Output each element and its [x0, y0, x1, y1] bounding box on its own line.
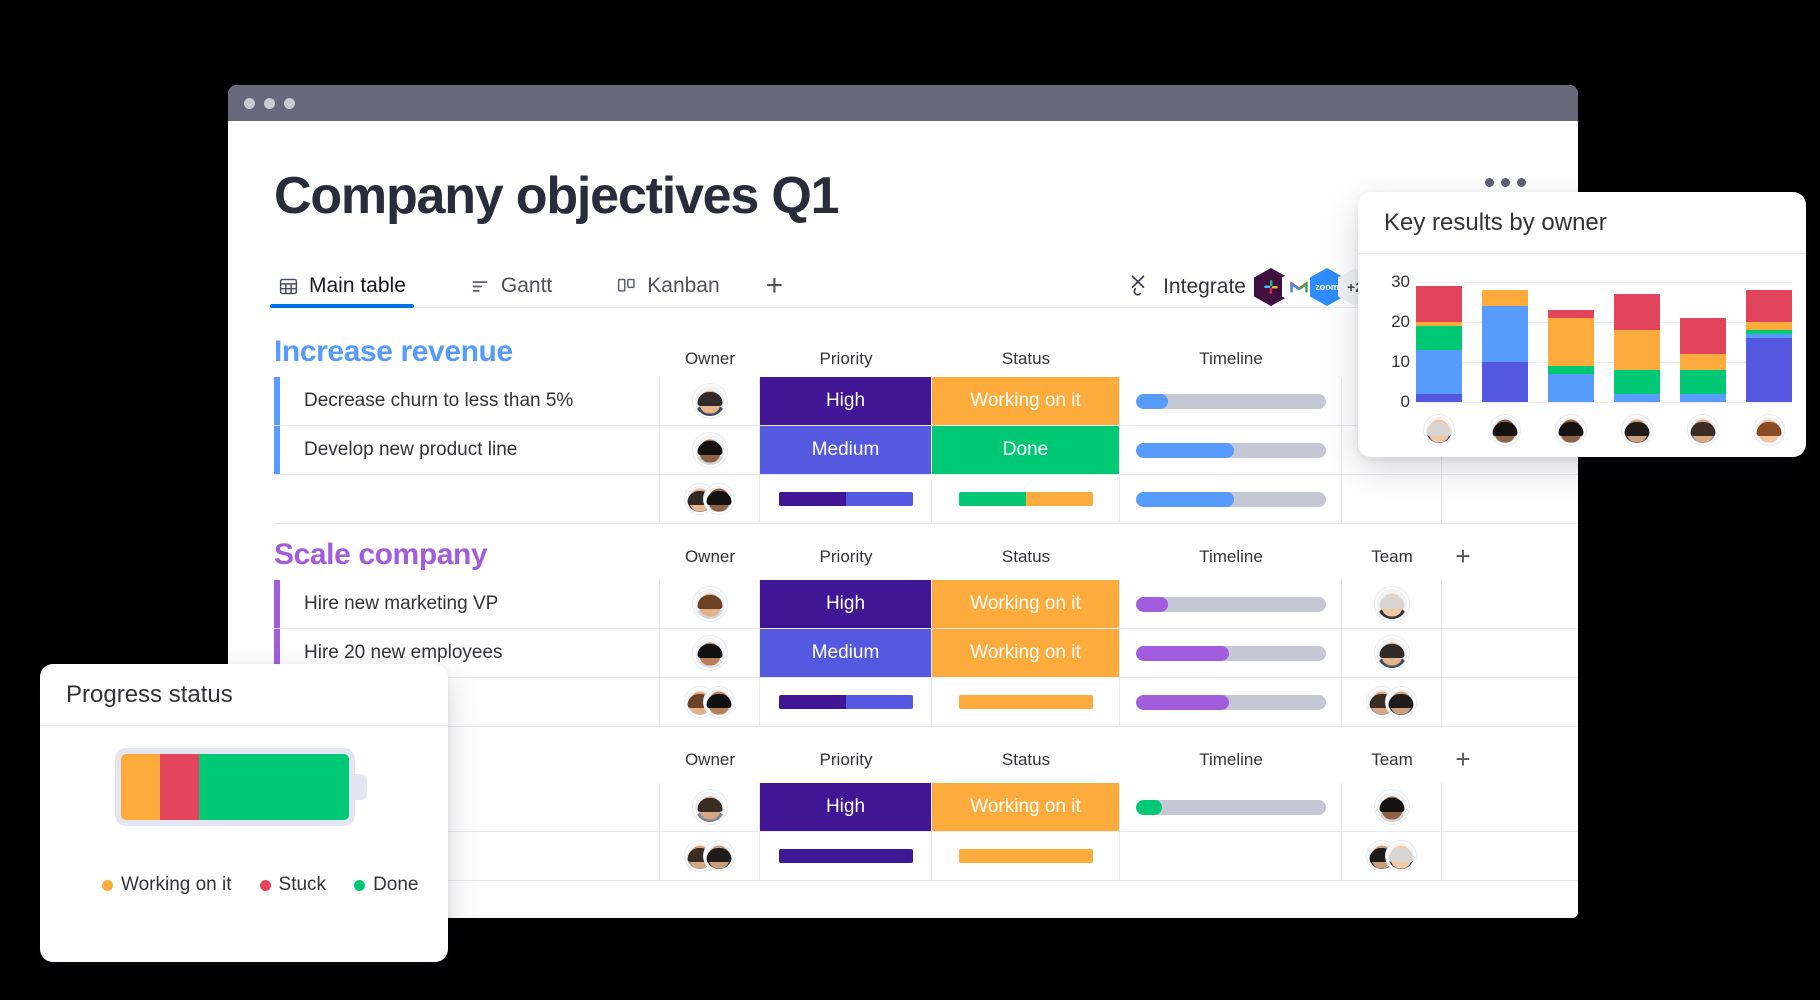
summary-add-cell: [1442, 475, 1484, 523]
summary-status-bar: [932, 678, 1120, 726]
column-header-timeline[interactable]: Timeline: [1120, 547, 1342, 567]
row-status[interactable]: Working on it: [932, 629, 1120, 677]
legend-dot-icon: [260, 880, 271, 891]
group-header: Scale companyOwnerPriorityStatusTimeline…: [274, 524, 1578, 580]
page-title: Company objectives Q1: [274, 167, 838, 225]
avatar[interactable]: [1490, 415, 1520, 445]
timeline-bar: [1136, 492, 1326, 507]
kanban-icon: [616, 276, 637, 297]
avatar[interactable]: [1754, 415, 1784, 445]
progress-status-title: Progress status: [40, 664, 448, 726]
chart-bar-segment: [1482, 362, 1528, 402]
chart-y-axis: 0102030: [1376, 270, 1410, 402]
progress-battery: [115, 748, 355, 826]
group-summary-row: [274, 678, 1578, 727]
chart-plot-area: [1416, 270, 1792, 402]
legend-item: Done: [354, 874, 418, 896]
group-title: Scale company: [274, 538, 487, 572]
tab-label: Gantt: [501, 274, 552, 298]
row-team[interactable]: [1342, 629, 1442, 677]
timeline-bar: [1136, 394, 1326, 409]
column-header-owner[interactable]: Owner: [660, 547, 760, 567]
avatar[interactable]: [1375, 636, 1409, 670]
row-timeline[interactable]: [1120, 377, 1342, 425]
add-view-button[interactable]: +: [756, 271, 794, 301]
row-add-cell[interactable]: [1442, 783, 1484, 831]
row-owner[interactable]: [660, 629, 760, 677]
timeline-bar: [1136, 646, 1326, 661]
summary-team: [1342, 475, 1442, 523]
chart-bar-segment: [1614, 330, 1660, 370]
chart-bar[interactable]: [1680, 318, 1726, 402]
avatar[interactable]: [704, 841, 734, 871]
table-row[interactable]: Hire new marketing VPHighWorking on it: [274, 580, 1578, 629]
avatar-face: [695, 589, 725, 619]
battery-segment-working-on-it: [121, 754, 160, 820]
summary-status-bar: [932, 832, 1120, 880]
avatar-face: [1492, 417, 1518, 443]
table-row[interactable]: Hire 20 new employeesMediumWorking on it: [274, 629, 1578, 678]
column-header-status[interactable]: Status: [932, 750, 1120, 770]
chart-bar[interactable]: [1746, 290, 1792, 402]
chart-bar-segment: [1746, 322, 1792, 330]
chart-bar[interactable]: [1614, 294, 1660, 402]
add-column-button[interactable]: +: [1442, 744, 1484, 775]
integrate-label[interactable]: Integrate: [1163, 275, 1246, 299]
chart-bar[interactable]: [1548, 310, 1594, 402]
chart-y-tick: 30: [1391, 272, 1410, 292]
summary-name: [280, 475, 660, 523]
chart-bar-segment: [1680, 354, 1726, 370]
chart-bar-segment: [1614, 294, 1660, 330]
key-results-card-menu[interactable]: [1485, 178, 1526, 187]
summary-priority-bar: [760, 832, 932, 880]
legend-item: Stuck: [260, 874, 327, 896]
row-status[interactable]: Working on it: [932, 580, 1120, 628]
row-timeline[interactable]: [1120, 783, 1342, 831]
chart-bar-segment: [1482, 306, 1528, 362]
chart-category-avatar[interactable]: [1614, 415, 1660, 445]
row-status[interactable]: Done: [932, 426, 1120, 474]
avatar[interactable]: [704, 687, 734, 717]
row-timeline[interactable]: [1120, 426, 1342, 474]
chart-bar-segment: [1746, 338, 1792, 402]
screenshot-root: Company objectives Q1 Main table: [0, 0, 1820, 1000]
summary-owner: [660, 678, 760, 726]
column-header-owner[interactable]: Owner: [660, 349, 760, 369]
column-headers: OwnerPriorityStatusTimelineTeam+: [660, 744, 1578, 775]
avatar[interactable]: [693, 384, 727, 418]
battery-nub-icon: [353, 774, 367, 800]
avatar-face: [1624, 417, 1650, 443]
key-results-card: Key results by owner 0102030: [1358, 192, 1806, 457]
row-add-cell[interactable]: [1442, 629, 1484, 677]
chart-bar-segment: [1746, 290, 1792, 322]
legend-label: Working on it: [121, 874, 232, 896]
avatar-group[interactable]: [1367, 687, 1416, 717]
chart-bar-segment: [1416, 394, 1462, 402]
chart-bar-segment: [1614, 394, 1660, 402]
chart-bar[interactable]: [1416, 286, 1462, 402]
chart-bar-segment: [1548, 374, 1594, 402]
integrate-area: Integrate: [1125, 269, 1372, 305]
chart-y-tick: 0: [1401, 392, 1410, 412]
column-header-priority[interactable]: Priority: [760, 750, 932, 770]
summary-team: [1342, 678, 1442, 726]
battery-segment-done: [199, 754, 349, 820]
avatar-face: [1377, 589, 1407, 619]
summary-status-bar: [932, 475, 1120, 523]
chart-category-avatar[interactable]: [1680, 415, 1726, 445]
chart-category-avatar[interactable]: [1482, 415, 1528, 445]
tab-label: Kanban: [647, 274, 719, 298]
chart-bar-segment: [1416, 326, 1462, 350]
progress-status-card: Progress status Working on itStuckDone: [40, 664, 448, 962]
avatar[interactable]: [1386, 841, 1416, 871]
avatar-face: [1558, 417, 1584, 443]
progress-status-body: Working on itStuckDone: [40, 726, 448, 962]
chart-gridline: [1416, 402, 1792, 403]
chart-x-axis-avatars: [1416, 410, 1792, 450]
battery-segment-stuck: [160, 754, 199, 820]
key-results-chart: 0102030: [1358, 254, 1806, 454]
row-timeline[interactable]: [1120, 580, 1342, 628]
table-row[interactable]: d 24/7 supportHighWorking on it: [274, 783, 1578, 832]
row-priority[interactable]: Medium: [760, 426, 932, 474]
key-results-title: Key results by owner: [1358, 192, 1806, 254]
tab-main-table[interactable]: Main table: [274, 264, 410, 308]
legend-dot-icon: [102, 880, 113, 891]
avatar[interactable]: [1386, 687, 1416, 717]
avatar[interactable]: [1556, 415, 1586, 445]
row-owner[interactable]: [660, 783, 760, 831]
chart-bar-segment: [1680, 394, 1726, 402]
chart-bars: [1416, 270, 1792, 402]
avatar-face: [695, 435, 725, 465]
avatar-face: [1377, 792, 1407, 822]
avatar-face: [1388, 843, 1414, 869]
legend-dot-icon: [354, 880, 365, 891]
window-maximize-dot[interactable]: [284, 98, 295, 109]
row-name[interactable]: Develop new product line: [280, 426, 660, 474]
chart-bar-segment: [1416, 286, 1462, 322]
summary-timeline: [1120, 832, 1342, 880]
chart-bar-segment: [1548, 366, 1594, 374]
summary-priority-bar: [760, 475, 932, 523]
row-owner[interactable]: [660, 377, 760, 425]
chart-bar[interactable]: [1482, 290, 1528, 402]
avatar-face: [695, 792, 725, 822]
summary-priority-bar: [760, 678, 932, 726]
avatar-group[interactable]: [685, 841, 734, 871]
row-status[interactable]: Working on it: [932, 783, 1120, 831]
summary-add-cell: [1442, 678, 1484, 726]
progress-legend: Working on itStuckDone: [102, 874, 418, 896]
legend-label: Done: [373, 874, 418, 896]
chart-bar-segment: [1680, 370, 1726, 394]
timeline-bar: [1136, 597, 1326, 612]
summary-team: [1342, 832, 1442, 880]
legend-item: Working on it: [102, 874, 232, 896]
avatar[interactable]: [693, 433, 727, 467]
avatar[interactable]: [693, 587, 727, 621]
avatar-group[interactable]: [1367, 841, 1416, 871]
chart-y-tick: 10: [1391, 352, 1410, 372]
summary-add-cell: [1442, 832, 1484, 880]
gantt-icon: [470, 276, 491, 297]
summary-timeline: [1120, 678, 1342, 726]
group-header: OwnerPriorityStatusTimelineTeam+: [274, 727, 1578, 783]
table-icon: [278, 276, 299, 297]
avatar-face: [1426, 417, 1452, 443]
column-header-team[interactable]: Team: [1342, 547, 1442, 567]
summary-owner: [660, 475, 760, 523]
avatar-face: [706, 689, 732, 715]
avatar[interactable]: [1375, 790, 1409, 824]
avatar[interactable]: [1622, 415, 1652, 445]
integration-app-icons: zoom +2: [1260, 268, 1372, 306]
row-team[interactable]: [1342, 783, 1442, 831]
chart-bar-segment: [1416, 350, 1462, 394]
column-headers: OwnerPriorityStatusTimelineTeam+: [660, 541, 1578, 572]
column-header-timeline[interactable]: Timeline: [1120, 750, 1342, 770]
column-header-priority[interactable]: Priority: [760, 349, 932, 369]
legend-label: Stuck: [279, 874, 327, 896]
chart-bar-segment: [1614, 370, 1660, 394]
group-title: Increase revenue: [274, 335, 513, 369]
row-owner[interactable]: [660, 426, 760, 474]
row-priority[interactable]: Medium: [760, 629, 932, 677]
row-timeline[interactable]: [1120, 629, 1342, 677]
avatar-group[interactable]: [685, 687, 734, 717]
avatar[interactable]: [704, 484, 734, 514]
chart-category-avatar[interactable]: [1548, 415, 1594, 445]
avatar-face: [1377, 638, 1407, 668]
row-priority[interactable]: High: [760, 783, 932, 831]
timeline-bar: [1136, 695, 1326, 710]
avatar-face: [1690, 417, 1716, 443]
avatar-face: [706, 486, 732, 512]
plug-icon: [1125, 272, 1151, 303]
row-status[interactable]: Working on it: [932, 377, 1120, 425]
row-add-cell[interactable]: [1442, 580, 1484, 628]
avatar[interactable]: [693, 790, 727, 824]
avatar[interactable]: [1375, 587, 1409, 621]
tab-gantt[interactable]: Gantt: [466, 264, 556, 308]
column-header-status[interactable]: Status: [932, 349, 1120, 369]
add-column-button[interactable]: +: [1442, 541, 1484, 572]
column-header-priority[interactable]: Priority: [760, 547, 932, 567]
avatar-group[interactable]: [685, 484, 734, 514]
window-close-dot[interactable]: [244, 98, 255, 109]
avatar[interactable]: [693, 636, 727, 670]
row-priority[interactable]: High: [760, 377, 932, 425]
group-3: OwnerPriorityStatusTimelineTeam+d 24/7 s…: [274, 727, 1578, 881]
row-owner[interactable]: [660, 580, 760, 628]
column-header-team[interactable]: Team: [1342, 750, 1442, 770]
summary-owner: [660, 832, 760, 880]
chart-bar-segment: [1548, 318, 1594, 366]
avatar-face: [695, 638, 725, 668]
row-priority[interactable]: High: [760, 580, 932, 628]
group-summary-row: [274, 832, 1578, 881]
row-name[interactable]: Decrease churn to less than 5%: [280, 377, 660, 425]
row-team[interactable]: [1342, 580, 1442, 628]
chart-y-tick: 20: [1391, 312, 1410, 332]
avatar-face: [695, 386, 725, 416]
window-titlebar: [228, 85, 1578, 121]
timeline-bar: [1136, 800, 1326, 815]
chart-category-avatar[interactable]: [1746, 415, 1792, 445]
chart-category-avatar[interactable]: [1416, 415, 1462, 445]
avatar-face: [1756, 417, 1782, 443]
column-header-status[interactable]: Status: [932, 547, 1120, 567]
avatar[interactable]: [1424, 415, 1454, 445]
column-header-owner[interactable]: Owner: [660, 750, 760, 770]
tab-label: Main table: [309, 274, 406, 298]
group-2: Scale companyOwnerPriorityStatusTimeline…: [274, 524, 1578, 727]
window-minimize-dot[interactable]: [264, 98, 275, 109]
chart-bar-segment: [1482, 290, 1528, 306]
chart-bar-segment: [1548, 310, 1594, 318]
avatar[interactable]: [1688, 415, 1718, 445]
column-header-timeline[interactable]: Timeline: [1120, 349, 1342, 369]
summary-timeline: [1120, 475, 1342, 523]
timeline-bar: [1136, 443, 1326, 458]
tab-kanban[interactable]: Kanban: [612, 264, 723, 308]
avatar-face: [1388, 689, 1414, 715]
group-summary-row: [274, 475, 1578, 524]
avatar-face: [706, 843, 732, 869]
chart-bar-segment: [1680, 318, 1726, 354]
row-name[interactable]: Hire new marketing VP: [280, 580, 660, 628]
